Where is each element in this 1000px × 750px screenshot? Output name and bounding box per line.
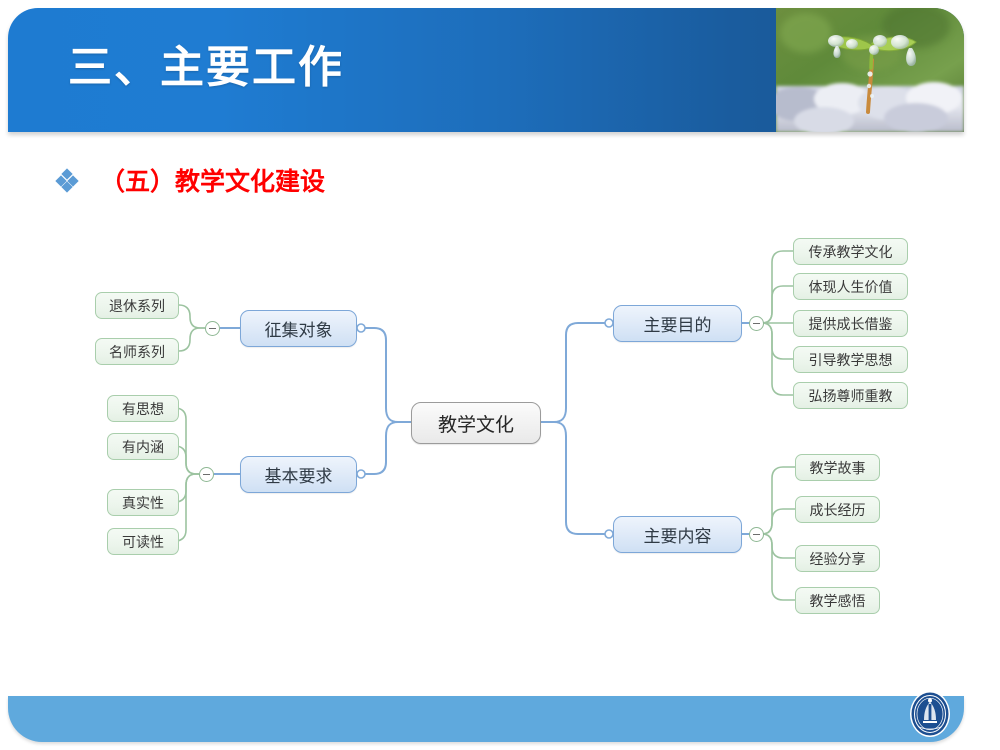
mindmap-leaf[interactable]: 教学感悟 xyxy=(795,587,880,614)
minus-collapse-icon[interactable] xyxy=(199,467,214,482)
minus-glyph xyxy=(209,328,216,329)
leaf-label: 经验分享 xyxy=(810,549,866,569)
mindmap-leaf[interactable]: 真实性 xyxy=(107,489,179,516)
slide-footer-bar xyxy=(8,696,964,742)
leaf-label: 教学故事 xyxy=(810,458,866,478)
leaf-label: 弘扬尊师重教 xyxy=(809,386,893,406)
mindmap-leaf[interactable]: 有内涵 xyxy=(107,433,179,460)
minus-glyph xyxy=(753,534,760,535)
minus-glyph xyxy=(753,323,760,324)
university-seal-logo xyxy=(908,690,952,738)
mindmap-leaf[interactable]: 退休系列 xyxy=(95,292,179,319)
leaf-label: 传承教学文化 xyxy=(809,242,893,262)
sprout-with-dewdrops-photo xyxy=(776,8,964,132)
mindmap-leaf[interactable]: 有思想 xyxy=(107,395,179,422)
subtitle-row: （五）教学文化建设 xyxy=(56,162,325,198)
leaf-label: 教学感悟 xyxy=(810,591,866,611)
leaf-label: 名师系列 xyxy=(109,342,165,362)
branch-label: 主要目的 xyxy=(644,311,712,336)
leaf-label: 引导教学思想 xyxy=(809,350,893,370)
mindmap-leaf[interactable]: 经验分享 xyxy=(795,545,880,572)
leaf-label: 真实性 xyxy=(122,493,164,513)
mindmap-leaf[interactable]: 成长经历 xyxy=(795,496,880,523)
minus-collapse-icon[interactable] xyxy=(749,527,764,542)
mindmap-branch-zhengjiduixiang[interactable]: 征集对象 xyxy=(240,310,357,347)
page-title: 三、主要工作 xyxy=(68,38,344,98)
leaf-label: 有思想 xyxy=(122,399,164,419)
diamond-cluster-icon xyxy=(56,169,78,191)
mindmap-leaf[interactable]: 引导教学思想 xyxy=(793,346,908,373)
mindmap-leaf[interactable]: 可读性 xyxy=(107,528,179,555)
subtitle-text: （五）教学文化建设 xyxy=(100,162,325,198)
mindmap-branch-jibenyaoqiu[interactable]: 基本要求 xyxy=(240,456,357,493)
leaf-label: 退休系列 xyxy=(109,296,165,316)
leaf-label: 成长经历 xyxy=(810,500,866,520)
mindmap-leaf[interactable]: 教学故事 xyxy=(795,454,880,481)
branch-label: 主要内容 xyxy=(644,522,712,547)
slide-title-bar: 三、主要工作 xyxy=(8,8,964,132)
mindmap-leaf[interactable]: 名师系列 xyxy=(95,338,179,365)
mindmap-branch-zhuyaoneirong[interactable]: 主要内容 xyxy=(613,516,742,553)
mindmap-center-node[interactable]: 教学文化 xyxy=(411,402,541,444)
leaf-label: 提供成长借鉴 xyxy=(809,314,893,334)
branch-label: 征集对象 xyxy=(265,316,333,341)
mindmap-leaf[interactable]: 提供成长借鉴 xyxy=(793,310,908,337)
branch-label: 基本要求 xyxy=(265,462,333,487)
mindmap-center-label: 教学文化 xyxy=(438,410,514,437)
leaf-label: 可读性 xyxy=(122,532,164,552)
minus-collapse-icon[interactable] xyxy=(749,316,764,331)
minus-glyph xyxy=(203,474,210,475)
mindmap-leaf[interactable]: 体现人生价值 xyxy=(793,273,908,300)
mindmap-diagram: 教学文化 征集对象 基本要求 主要目的 主要内容 退休系列 名师系列 有思想 有… xyxy=(0,210,1000,630)
minus-collapse-icon[interactable] xyxy=(205,321,220,336)
mindmap-leaf[interactable]: 弘扬尊师重教 xyxy=(793,382,908,409)
mindmap-leaf[interactable]: 传承教学文化 xyxy=(793,238,908,265)
leaf-label: 体现人生价值 xyxy=(809,277,893,297)
leaf-label: 有内涵 xyxy=(122,437,164,457)
mindmap-branch-zhuyaomudi[interactable]: 主要目的 xyxy=(613,305,742,342)
slide-canvas: 三、主要工作 xyxy=(0,0,1000,750)
